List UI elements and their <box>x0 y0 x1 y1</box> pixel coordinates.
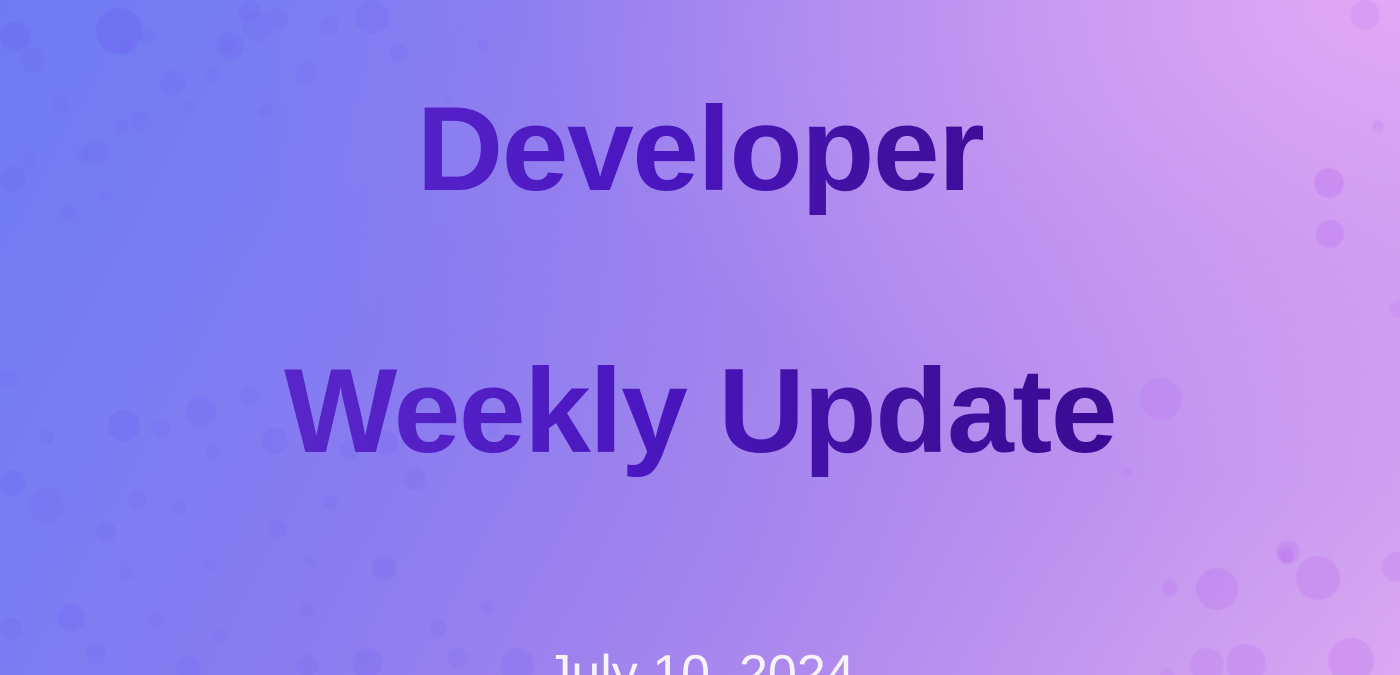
page-title-line-1: Developer <box>284 84 1116 215</box>
issue-date: July 10, 2024 <box>545 644 854 675</box>
weekly-update-banner: Developer Weekly Update July 10, 2024 <box>0 0 1400 675</box>
page-title: Developer Weekly Update <box>264 0 1136 608</box>
page-title-line-2: Weekly Update <box>284 346 1116 477</box>
banner-content: Developer Weekly Update July 10, 2024 <box>0 0 1400 675</box>
